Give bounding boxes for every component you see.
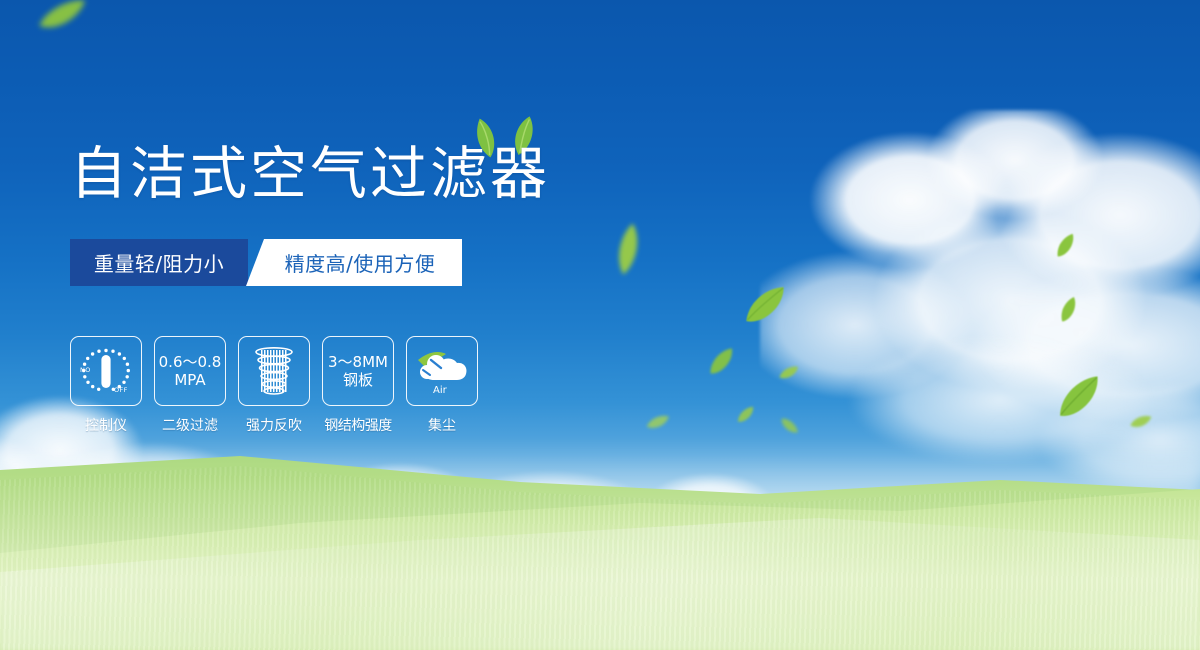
feature-icon-box: NO OFF bbox=[70, 336, 142, 406]
svg-text:OFF: OFF bbox=[114, 386, 128, 394]
feature-icon-box: Air bbox=[406, 336, 478, 406]
feature-item-filtration[interactable]: 0.6～0.8 MPA 二级过滤 bbox=[154, 336, 226, 435]
svg-text:NO: NO bbox=[80, 366, 91, 374]
badge-group: 重量轻/阻力小 精度高/使用方便 bbox=[70, 239, 462, 286]
badge-primary-label: 重量轻/阻力小 bbox=[94, 248, 224, 277]
gauge-icon: NO OFF bbox=[78, 345, 134, 397]
feature-item-backblow[interactable]: 强力反吹 bbox=[238, 336, 310, 435]
feature-label: 二级过滤 bbox=[162, 415, 218, 435]
pressure-value: 0.6～0.8 bbox=[159, 353, 222, 371]
steel-material: 钢板 bbox=[328, 371, 388, 389]
badge-secondary: 精度高/使用方便 bbox=[246, 239, 462, 286]
feature-item-controller[interactable]: NO OFF 控制仪 bbox=[70, 336, 142, 435]
feature-label: 钢结构强度 bbox=[324, 415, 392, 435]
feature-item-dustcollect[interactable]: Air 集尘 bbox=[406, 336, 478, 435]
feature-label: 控制仪 bbox=[85, 415, 127, 435]
steel-thickness: 3～8MM bbox=[328, 353, 388, 371]
feature-list: NO OFF 控制仪 0.6～0.8 MPA 二级过滤 bbox=[70, 336, 478, 435]
svg-text:Air: Air bbox=[433, 385, 448, 396]
page-title: 自洁式空气过滤器 bbox=[70, 142, 550, 206]
product-banner: 自洁式空气过滤器 重量轻/阻力小 精度高/使用方便 bbox=[0, 0, 1200, 650]
coil-icon bbox=[252, 346, 296, 396]
feature-icon-box: 3～8MM 钢板 bbox=[322, 336, 394, 406]
feature-label: 集尘 bbox=[428, 415, 456, 435]
cloud-air-icon: Air bbox=[414, 346, 470, 396]
pressure-unit: MPA bbox=[159, 371, 222, 389]
feature-label: 强力反吹 bbox=[246, 415, 302, 435]
banner-content: 自洁式空气过滤器 重量轻/阻力小 精度高/使用方便 bbox=[0, 0, 1200, 650]
pressure-text-icon: 0.6～0.8 MPA bbox=[159, 353, 222, 389]
feature-item-steel[interactable]: 3～8MM 钢板 钢结构强度 bbox=[322, 336, 394, 435]
badge-primary: 重量轻/阻力小 bbox=[70, 239, 248, 286]
steel-text-icon: 3～8MM 钢板 bbox=[328, 353, 388, 389]
badge-secondary-label: 精度高/使用方便 bbox=[285, 248, 436, 277]
feature-icon-box: 0.6～0.8 MPA bbox=[154, 336, 226, 406]
feature-icon-box bbox=[238, 336, 310, 406]
